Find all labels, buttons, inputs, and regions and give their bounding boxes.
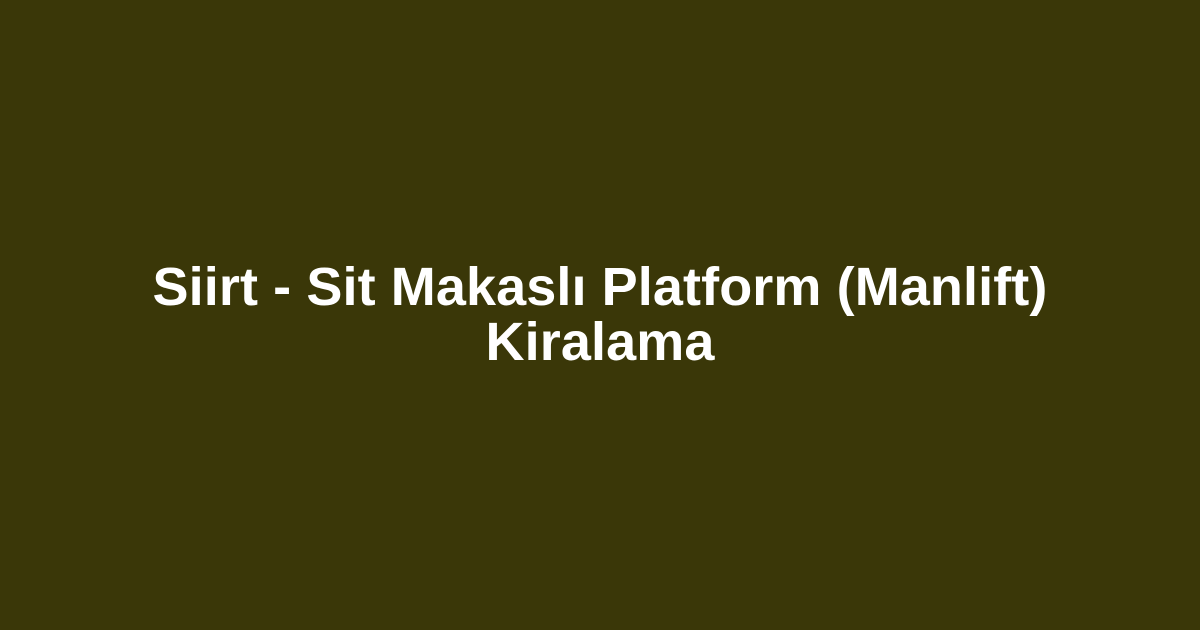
share-card-content: Siirt - Sit Makaslı Platform (Manlift) K… — [60, 260, 1140, 370]
page-title: Siirt - Sit Makaslı Platform (Manlift) K… — [60, 260, 1140, 370]
share-card-canvas: Siirt - Sit Makaslı Platform (Manlift) K… — [0, 0, 1200, 630]
